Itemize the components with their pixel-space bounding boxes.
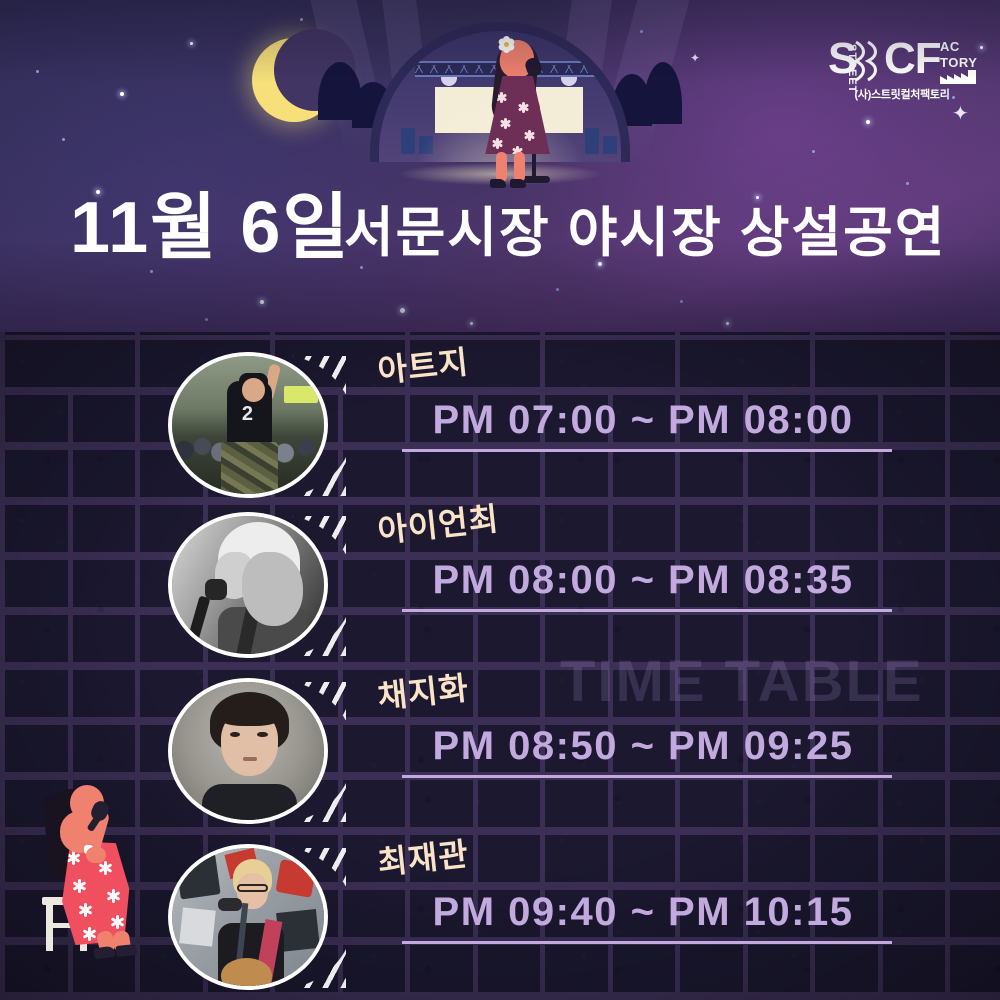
page-title-date: 11월 6일 [70,168,351,273]
page-subtitle: 서문시장 야시장 상설공연 [344,188,947,267]
row-divider [402,609,892,612]
timetable-row[interactable]: 최재관 PM 09:40 ~ PM 10:15 [0,838,1000,996]
artist-name: 최재관 [375,829,471,884]
performance-time: PM 07:00 ~ PM 08:00 [408,398,878,443]
performance-time: PM 08:50 ~ PM 09:25 [408,724,878,769]
artist-photo [168,512,328,658]
artist-photo-frame [168,512,340,658]
artist-photo [168,678,328,824]
artist-photo-frame: 2 [168,352,340,498]
timetable-row[interactable]: 채지화 PM 08:50 ~ PM 09:25 [0,672,1000,830]
artist-name: 아트지 [375,337,471,392]
header-night-sky: ✦ ✦ [0,0,1000,332]
timetable-row[interactable]: 아이언최 PM 08:00 ~ PM 08:35 [0,506,1000,664]
timetable-list: 2 아트지 PM 07:00 ~ PM 08:00 [0,332,1000,1000]
artist-photo [168,844,328,990]
artist-photo-frame [168,844,340,990]
artist-name: 채지화 [375,663,471,718]
artist-photo-frame [168,678,340,824]
performance-time: PM 08:00 ~ PM 08:35 [408,558,878,603]
row-divider [402,941,892,944]
row-divider [402,449,892,452]
poster-root: ✦ ✦ [0,0,1000,1000]
row-divider [402,775,892,778]
performance-time: PM 09:40 ~ PM 10:15 [408,890,878,935]
timetable-row[interactable]: 2 아트지 PM 07:00 ~ PM 08:00 [0,346,1000,504]
artist-photo: 2 [168,352,328,498]
